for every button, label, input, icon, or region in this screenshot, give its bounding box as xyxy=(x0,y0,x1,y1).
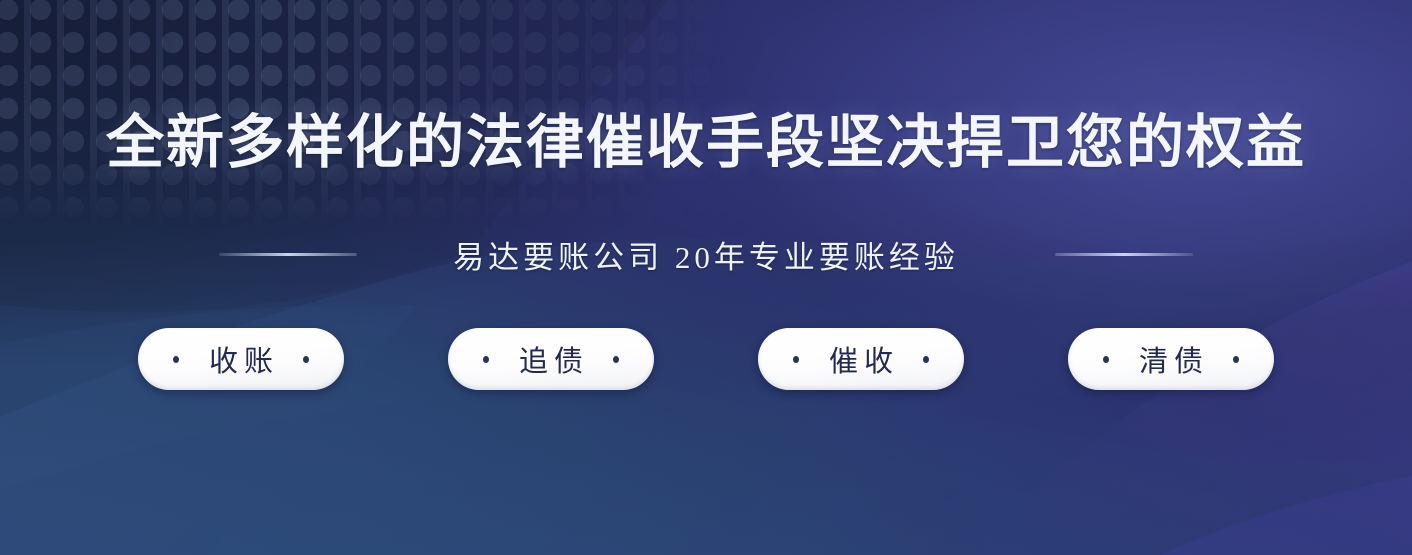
service-pill-label: 收账 xyxy=(203,338,279,380)
bullet-dot-icon xyxy=(1233,356,1239,363)
service-pill-cuishou[interactable]: 催收 xyxy=(758,328,964,390)
promo-banner: 全新多样化的法律催收手段坚决捍卫您的权益 易达要账公司 20年专业要账经验 收账… xyxy=(0,0,1412,555)
service-pill-label: 清债 xyxy=(1133,338,1209,380)
bullet-dot-icon xyxy=(613,356,619,363)
bullet-dot-icon xyxy=(923,356,929,363)
subtitle-row: 易达要账公司 20年专业要账经验 xyxy=(219,232,1193,277)
left-divider-rule xyxy=(219,253,357,256)
bullet-dot-icon xyxy=(793,356,799,363)
bullet-dot-icon xyxy=(1103,356,1109,363)
service-pill-qingzhai[interactable]: 清债 xyxy=(1068,328,1274,390)
subtitle: 易达要账公司 20年专业要账经验 xyxy=(453,232,959,277)
bullet-dot-icon xyxy=(483,356,489,363)
bullet-dot-icon xyxy=(173,356,179,363)
right-divider-rule xyxy=(1055,253,1193,256)
service-pill-label: 追债 xyxy=(513,338,589,380)
service-pill-zhuizhai[interactable]: 追债 xyxy=(448,328,654,390)
service-pill-shouzhang[interactable]: 收账 xyxy=(138,328,344,390)
banner-content: 全新多样化的法律催收手段坚决捍卫您的权益 易达要账公司 20年专业要账经验 收账… xyxy=(0,0,1412,555)
bullet-dot-icon xyxy=(303,356,309,363)
service-pill-label: 催收 xyxy=(823,338,899,380)
service-pill-row: 收账 追债 催收 清债 xyxy=(138,328,1274,390)
page-title: 全新多样化的法律催收手段坚决捍卫您的权益 xyxy=(106,112,1306,174)
